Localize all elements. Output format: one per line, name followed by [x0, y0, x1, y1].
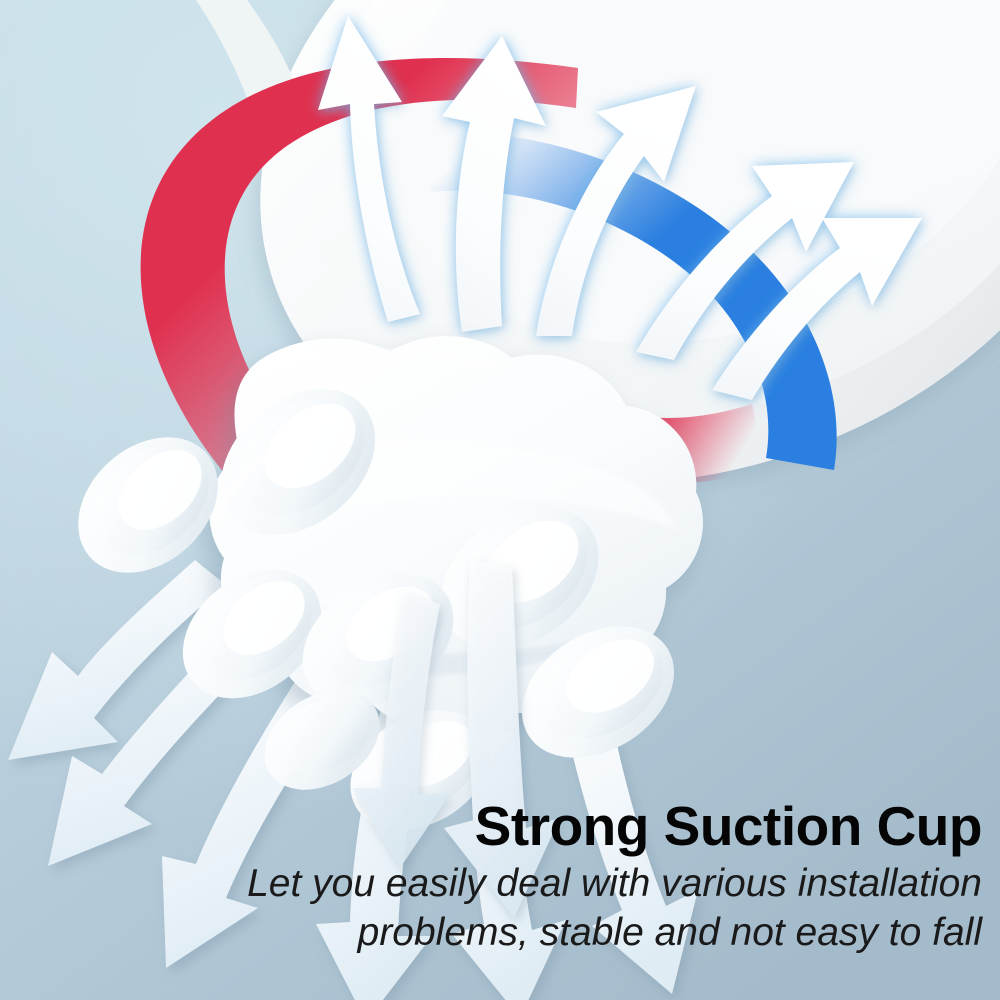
- suction-cup-product-image: Strong Suction Cup Let you easily deal w…: [0, 0, 1000, 1000]
- foreground-arrow-tails-layer: [0, 0, 1000, 1000]
- airflow-arrow-down-foreground-1: [444, 560, 560, 918]
- airflow-arrow-down-foreground-2: [352, 592, 450, 868]
